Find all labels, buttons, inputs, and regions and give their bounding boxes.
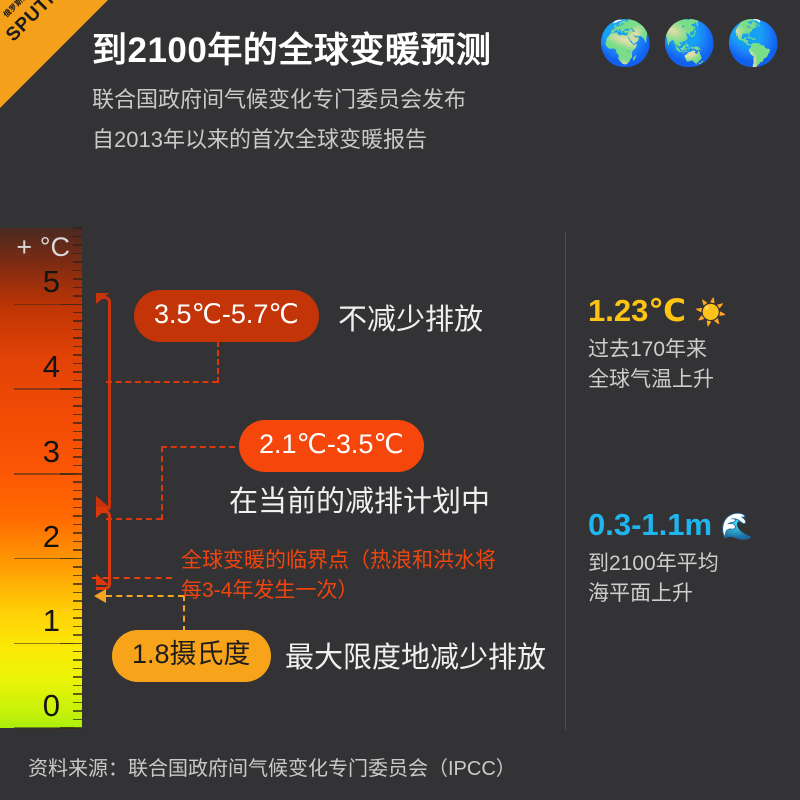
scale-tick-minor [73, 549, 82, 551]
scale-tick-minor [73, 659, 82, 661]
scale-tick-minor [73, 498, 82, 500]
scale-gridline [14, 473, 74, 475]
stat-sea-level-value: 0.3-1.1m [588, 507, 712, 542]
stat-temperature-value: 1.23℃ [588, 293, 686, 328]
bracket-scenario-high-cap-bottom [96, 496, 109, 507]
stat-temperature-rise: 1.23℃ ☀️ 过去170年来 全球气温上升 [588, 294, 727, 395]
globe-americas-icon: 🌎 [726, 22, 781, 66]
wave-icon: 🌊 [721, 511, 753, 541]
tipping-point-line [92, 577, 172, 579]
scale-tick-minor [73, 490, 82, 492]
stat-sea-level-rise: 0.3-1.1m 🌊 到2100年平均 海平面上升 [588, 508, 753, 609]
scale-tick-minor [73, 405, 82, 407]
source-note: 资料来源：联合国政府间气候变化专门委员会（IPCC） [28, 752, 516, 781]
sun-icon: ☀️ [695, 297, 727, 327]
scale-tick-minor [73, 227, 82, 229]
scale-tick-label-2: 2 [0, 521, 60, 552]
page-title: 到2100年的全球变暖预测 [92, 22, 491, 73]
scenario-range-pill-max-reduction[interactable]: 1.8摄氏度 [112, 630, 271, 682]
scale-tick-label-5: 5 [0, 266, 60, 297]
scenario-range-pill-no-reduction[interactable]: 3.5℃-5.7℃ [134, 290, 319, 342]
scale-tick-label-4: 4 [0, 351, 60, 382]
scale-tick-minor [73, 566, 82, 568]
scale-tick-minor [73, 287, 82, 289]
scenario-label-no-reduction: 不减少排放 [338, 296, 483, 338]
scale-tick-minor [73, 541, 82, 543]
scale-gridline [14, 388, 74, 390]
scale-tick-minor [73, 253, 82, 255]
scale-gridline [14, 643, 74, 645]
stat-sea-level-desc-line1: 到2100年平均 [588, 549, 753, 579]
scenario-label-max-reduction: 最大限度地减少排放 [285, 634, 546, 676]
connector-high-horizontal [106, 381, 218, 383]
scale-tick-minor [73, 507, 82, 509]
connector-mid-vertical [161, 446, 163, 520]
scale-tick-minor [73, 465, 82, 467]
stat-temperature-desc-line1: 过去170年来 [588, 335, 727, 365]
connector-mid-horizontal-lower [106, 518, 162, 520]
scale-tick-minor [73, 397, 82, 399]
scale-tick-minor [73, 346, 82, 348]
scale-tick-minor [73, 575, 82, 577]
scale-tick-minor [73, 609, 82, 611]
globe-icon-group: 🌍 🌏 🌎 [598, 22, 783, 72]
scale-tick-minor [73, 363, 82, 365]
scale-tick-minor [73, 456, 82, 458]
scale-tick-minor [73, 270, 82, 272]
scale-tick-minor [73, 354, 82, 356]
scale-tick-minor [73, 626, 82, 628]
scale-tick-minor [73, 710, 82, 712]
tipping-point-text-line2: 每3-4年发生一次） [181, 576, 358, 606]
globe-asia-australia-icon: 🌏 [662, 22, 717, 66]
scale-gridline [14, 727, 74, 729]
scale-tick-minor [73, 320, 82, 322]
scale-tick-minor [73, 719, 82, 721]
bracket-scenario-mid-cap-top [96, 507, 109, 518]
scale-tick-minor [73, 693, 82, 695]
minimum-scenario-arrow-icon [94, 589, 106, 603]
scale-tick-minor [73, 617, 82, 619]
scale-tick-minor [73, 634, 82, 636]
scale-tick-minor [73, 532, 82, 534]
scale-tick-minor [73, 481, 82, 483]
stat-sea-level-value-row: 0.3-1.1m 🌊 [588, 508, 753, 542]
scale-tick-minor [73, 337, 82, 339]
panel-divider [565, 232, 566, 730]
scale-tick-minor [73, 685, 82, 687]
scale-tick-minor [73, 651, 82, 653]
scale-tick-minor [73, 278, 82, 280]
stat-sea-level-desc-line2: 海平面上升 [588, 579, 753, 609]
scale-tick-minor [73, 236, 82, 238]
subtitle-line-2: 自2013年以来的首次全球变暖报告 [92, 122, 427, 154]
scale-tick-minor [73, 414, 82, 416]
scale-tick-minor [73, 312, 82, 314]
scale-tick-minor [73, 329, 82, 331]
scale-tick-minor [73, 380, 82, 382]
tipping-point-text-line1: 全球变暖的临界点（热浪和洪水将 [181, 546, 496, 576]
scale-tick-minor [73, 676, 82, 678]
scale-tick-minor [73, 702, 82, 704]
scale-tick-label-1: 1 [0, 605, 60, 636]
scale-tick-label-3: 3 [0, 436, 60, 467]
scale-tick-label-0: 0 [0, 690, 60, 721]
scale-tick-minor [73, 422, 82, 424]
scale-tick-minor [73, 668, 82, 670]
connector-high-vertical [217, 341, 219, 383]
bracket-scenario-high-cap-top [96, 293, 109, 304]
scale-tick-minor [73, 371, 82, 373]
scale-tick-minor [73, 524, 82, 526]
scale-tick-minor [73, 515, 82, 517]
connector-min-horizontal [106, 595, 184, 597]
bracket-scenario-mid-cap-bottom [96, 574, 109, 585]
scale-tick-minor [73, 439, 82, 441]
stat-temperature-value-row: 1.23℃ ☀️ [588, 294, 727, 328]
connector-mid-horizontal-upper [161, 446, 235, 448]
stat-temperature-desc-line2: 全球气温上升 [588, 365, 727, 395]
scale-gridline [14, 558, 74, 560]
scale-tick-minor [73, 583, 82, 585]
scenario-label-current-plan: 在当前的减排计划中 [229, 478, 490, 520]
scale-tick-minor [73, 448, 82, 450]
scale-tick-minor [73, 431, 82, 433]
scale-tick-minor [73, 261, 82, 263]
infographic-canvas: 俄罗斯卫星通讯社 SPUTNIK 到2100年的全球变暖预测 联合国政府间气候变… [0, 0, 800, 800]
scale-gridline [14, 304, 74, 306]
scale-tick-minor [73, 295, 82, 297]
bracket-scenario-high [96, 296, 111, 512]
globe-europe-africa-icon: 🌍 [598, 22, 653, 66]
scale-tick-minor [73, 600, 82, 602]
scale-tick-minor [73, 244, 82, 246]
scale-unit-label: + °C [8, 232, 70, 263]
scenario-range-pill-current-plan[interactable]: 2.1℃-3.5℃ [239, 420, 424, 472]
scale-tick-minor [73, 592, 82, 594]
subtitle-line-1: 联合国政府间气候变化专门委员会发布 [92, 82, 466, 114]
